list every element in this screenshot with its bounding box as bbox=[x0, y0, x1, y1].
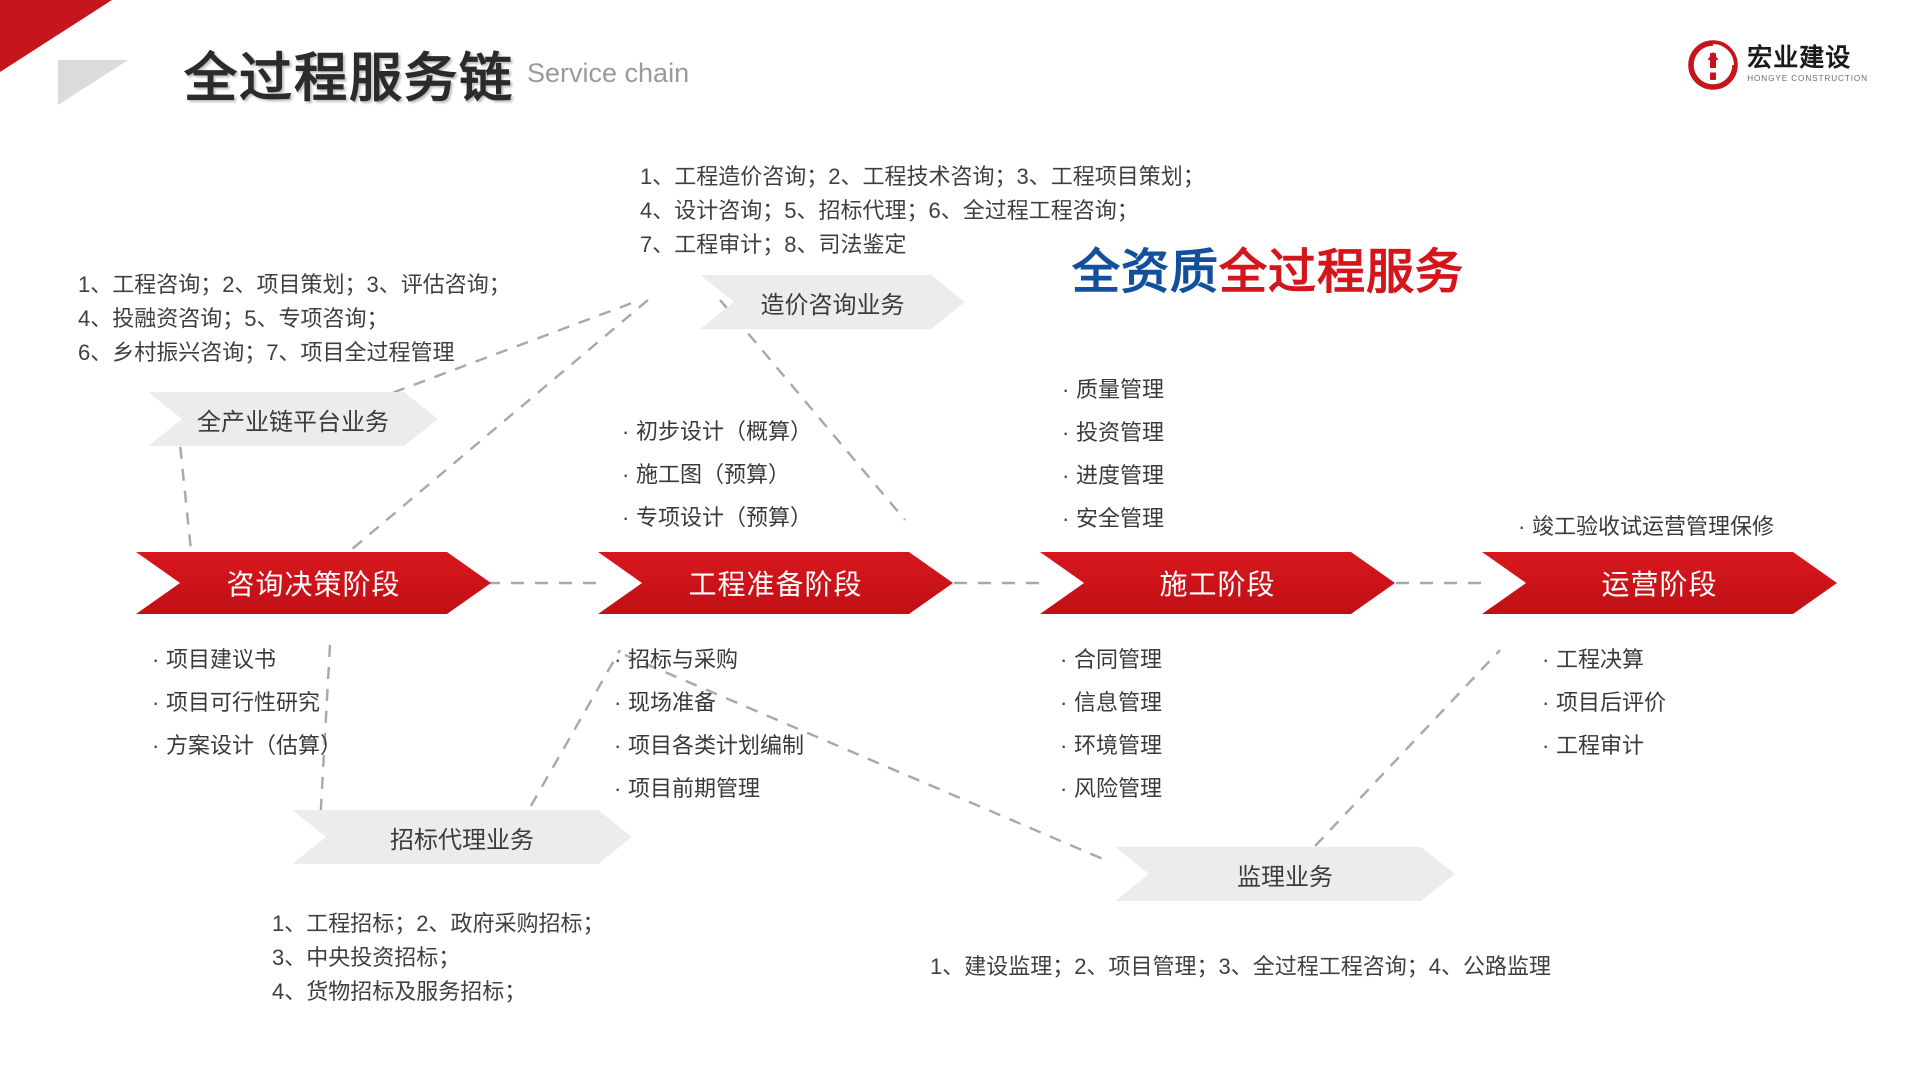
list-item: 施工图（预算） bbox=[622, 453, 812, 496]
business-node-label: 监理业务 bbox=[1237, 857, 1333, 892]
logo-name-cn: 宏业建设 bbox=[1747, 46, 1868, 71]
slogan-part-red: 全过程服务 bbox=[1219, 246, 1464, 299]
list-item: 竣工验收试运营管理保修 bbox=[1518, 505, 1774, 548]
list-item: 专项设计（预算） bbox=[622, 496, 812, 539]
company-logo: 宏业建设 HONGYE CONSTRUCTION bbox=[1688, 40, 1868, 90]
business-node-label: 招标代理业务 bbox=[390, 820, 534, 855]
slide-canvas: 全过程服务链 Service chain 宏业建设 HONGYE CONSTRU… bbox=[0, 0, 1920, 1080]
business-node-label: 全产业链平台业务 bbox=[197, 402, 389, 437]
list-item: 风险管理 bbox=[1060, 767, 1162, 810]
stage-chevron-2[interactable]: 工程准备阶段 bbox=[598, 552, 953, 614]
page-title: 全过程服务链 bbox=[184, 36, 514, 112]
stage-label: 工程准备阶段 bbox=[688, 563, 862, 603]
business-node-platform[interactable]: 全产业链平台业务 bbox=[148, 392, 438, 446]
business-detail-bidding: 1、工程招标；2、政府采购招标； 3、中央投资招标； 4、货物招标及服务招标； bbox=[272, 907, 604, 1009]
list-item: 项目可行性研究 bbox=[152, 681, 342, 724]
logo-name-en: HONGYE CONSTRUCTION bbox=[1747, 75, 1868, 83]
list-item: 安全管理 bbox=[1062, 497, 1164, 540]
page-subtitle: Service chain bbox=[527, 58, 689, 89]
business-node-label: 造价咨询业务 bbox=[761, 285, 905, 320]
list-item: 项目前期管理 bbox=[614, 767, 804, 810]
list-item: 现场准备 bbox=[614, 681, 804, 724]
stage-label: 咨询决策阶段 bbox=[226, 563, 400, 603]
list-item: 工程审计 bbox=[1542, 724, 1666, 767]
list-item: 进度管理 bbox=[1062, 454, 1164, 497]
stage-1-below-list: 项目建议书 项目可行性研究 方案设计（估算） bbox=[152, 638, 342, 767]
stage-2-below-list: 招标与采购 现场准备 项目各类计划编制 项目前期管理 bbox=[614, 638, 804, 810]
business-node-cost[interactable]: 造价咨询业务 bbox=[700, 275, 965, 329]
logo-emblem-icon bbox=[1688, 40, 1738, 90]
business-detail-platform: 1、工程咨询；2、项目策划；3、评估咨询； 4、投融资咨询；5、专项咨询； 6、… bbox=[78, 268, 511, 370]
list-item: 方案设计（估算） bbox=[152, 724, 342, 767]
list-item: 合同管理 bbox=[1060, 638, 1162, 681]
stage-label: 运营阶段 bbox=[1601, 563, 1717, 603]
list-item: 初步设计（概算） bbox=[622, 410, 812, 453]
link-bidding-stage2 bbox=[520, 650, 620, 825]
list-item: 项目建议书 bbox=[152, 638, 342, 681]
list-item: 项目后评价 bbox=[1542, 681, 1666, 724]
business-node-bidding[interactable]: 招标代理业务 bbox=[292, 810, 632, 864]
list-item: 招标与采购 bbox=[614, 638, 804, 681]
list-item: 信息管理 bbox=[1060, 681, 1162, 724]
stage-4-above-list: 竣工验收试运营管理保修 bbox=[1518, 505, 1774, 548]
slogan-part-blue: 全资质 bbox=[1072, 246, 1219, 299]
stage-4-below-list: 工程决算 项目后评价 工程审计 bbox=[1542, 638, 1666, 767]
stage-chevron-4[interactable]: 运营阶段 bbox=[1482, 552, 1837, 614]
stage-chevron-3[interactable]: 施工阶段 bbox=[1040, 552, 1395, 614]
stage-2-above-list: 初步设计（概算） 施工图（预算） 专项设计（预算） bbox=[622, 410, 812, 539]
header-gray-triangle bbox=[58, 60, 128, 150]
stage-3-above-list: 质量管理 投资管理 进度管理 安全管理 bbox=[1062, 368, 1164, 540]
list-item: 工程决算 bbox=[1542, 638, 1666, 681]
list-item: 环境管理 bbox=[1060, 724, 1162, 767]
stage-label: 施工阶段 bbox=[1159, 563, 1275, 603]
business-node-supervise[interactable]: 监理业务 bbox=[1115, 847, 1455, 901]
logo-text: 宏业建设 HONGYE CONSTRUCTION bbox=[1747, 46, 1868, 83]
link-supervise-stage4 bbox=[1300, 650, 1500, 862]
list-item: 投资管理 bbox=[1062, 411, 1164, 454]
stage-3-below-list: 合同管理 信息管理 环境管理 风险管理 bbox=[1060, 638, 1162, 810]
business-detail-supervise: 1、建设监理；2、项目管理；3、全过程工程咨询；4、公路监理 bbox=[930, 950, 1551, 984]
list-item: 质量管理 bbox=[1062, 368, 1164, 411]
stage-chevron-1[interactable]: 咨询决策阶段 bbox=[136, 552, 491, 614]
slogan: 全资质全过程服务 bbox=[1072, 232, 1464, 302]
list-item: 项目各类计划编制 bbox=[614, 724, 804, 767]
